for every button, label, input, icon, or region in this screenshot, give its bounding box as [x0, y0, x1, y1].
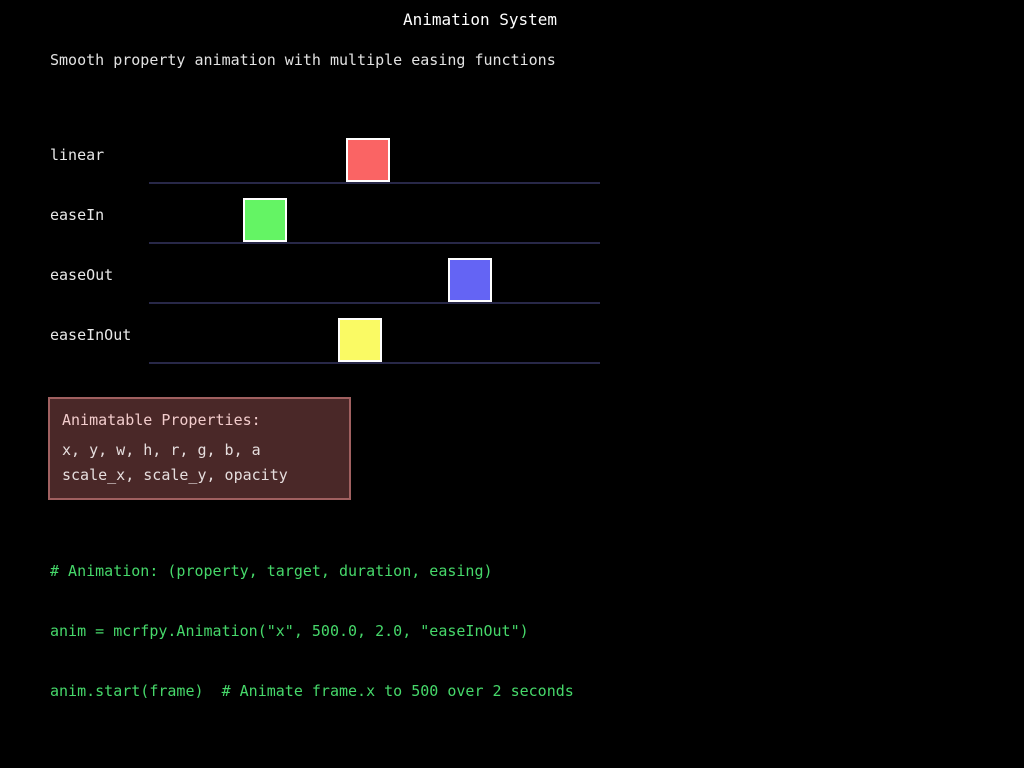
code-line: # Animation: (property, target, duration… [50, 561, 574, 581]
code-line: anim.start(frame) # Animate frame.x to 5… [50, 681, 574, 701]
easing-track-row: easeIn [0, 190, 1024, 250]
app-title: Animation System [0, 11, 960, 29]
easing-track-line [149, 302, 600, 304]
easing-track-row: easeOut [0, 250, 1024, 310]
app-subtitle: Smooth property animation with multiple … [50, 51, 556, 69]
animated-sprite-easeIn[interactable] [243, 198, 287, 242]
properties-list-line: scale_x, scale_y, opacity [62, 466, 288, 484]
animated-sprite-easeOut[interactable] [448, 258, 492, 302]
easing-track-line [149, 242, 600, 244]
easing-track-row: easeInOut [0, 310, 1024, 370]
easing-track-label: easeInOut [50, 326, 131, 344]
code-line: anim = mcrfpy.Animation("x", 500.0, 2.0,… [50, 621, 574, 641]
properties-panel-title: Animatable Properties: [62, 411, 261, 429]
easing-track-line [149, 362, 600, 364]
easing-track-label: easeIn [50, 206, 104, 224]
easing-track-label: linear [50, 146, 104, 164]
properties-list-line: x, y, w, h, r, g, b, a [62, 441, 261, 459]
easing-track-line [149, 182, 600, 184]
code-sample: # Animation: (property, target, duration… [50, 521, 574, 721]
animatable-properties-panel: Animatable Properties: x, y, w, h, r, g,… [48, 397, 351, 500]
animated-sprite-linear[interactable] [346, 138, 390, 182]
easing-track-row: linear [0, 130, 1024, 190]
animated-sprite-easeInOut[interactable] [338, 318, 382, 362]
easing-track-label: easeOut [50, 266, 113, 284]
